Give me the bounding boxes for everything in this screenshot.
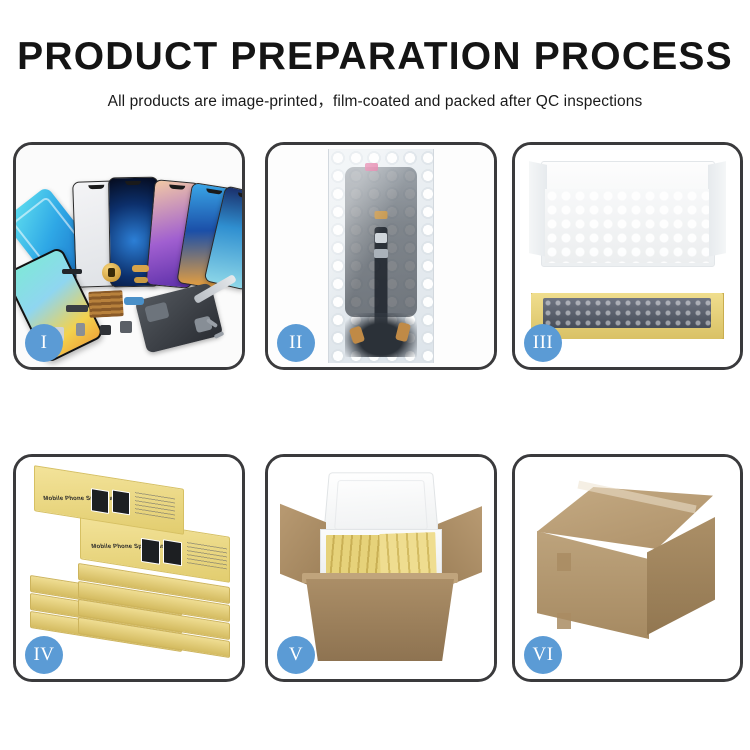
lid-flap-right xyxy=(708,161,726,257)
part-gold-strip xyxy=(134,277,148,283)
white-foam-sheet xyxy=(545,189,709,263)
step-badge-6: VI xyxy=(524,636,562,674)
bubble-wrap-sleeve xyxy=(328,149,434,363)
yellow-boxes-row-2 xyxy=(379,532,437,578)
part-speaker xyxy=(62,269,82,274)
process-step-2: II xyxy=(265,142,497,370)
part-sim-tray xyxy=(76,323,85,336)
step-badge-1: I xyxy=(25,324,63,362)
process-step-5: V xyxy=(265,454,497,682)
product-preparation-infographic: PRODUCT PREPARATION PROCESS All products… xyxy=(0,0,750,750)
process-step-6: VI xyxy=(512,454,743,682)
part-camera-module xyxy=(100,325,111,335)
wrapped-cable-bundle xyxy=(345,313,417,357)
step-badge-3: III xyxy=(524,324,562,362)
carton-tab-lower xyxy=(557,613,571,629)
wrapped-connector-gold xyxy=(375,211,388,219)
wrapped-connector-grey xyxy=(374,249,388,258)
step-badge-5: V xyxy=(277,636,315,674)
part-flex-gold xyxy=(132,265,149,272)
chip-grid-part xyxy=(88,290,123,318)
part-flex-cable xyxy=(66,305,88,312)
step-badge-4: IV xyxy=(25,636,63,674)
yellow-tray xyxy=(531,293,723,339)
box-label-upper: Mobile Phone Spare Parts xyxy=(43,496,122,502)
process-step-3: III xyxy=(512,142,743,370)
pink-tape-label xyxy=(365,163,378,171)
carton-body xyxy=(306,579,454,661)
process-step-1: I xyxy=(13,142,245,370)
step-badge-2: II xyxy=(277,324,315,362)
copper-coil-part xyxy=(102,263,121,282)
page-subtitle: All products are image-printed，film-coat… xyxy=(0,89,750,111)
process-step-4: Mobile Phone Spare Parts Mobile Phone Sp… xyxy=(13,454,245,682)
wrapped-connector-light xyxy=(375,233,387,243)
retail-box-stack: Mobile Phone Spare Parts Mobile Phone Sp… xyxy=(24,473,236,663)
carton-tab-upper xyxy=(557,553,571,571)
header: PRODUCT PREPARATION PROCESS All products… xyxy=(0,0,750,111)
part-battery-connector xyxy=(120,321,132,333)
bubble-wrapped-contents xyxy=(543,298,711,328)
page-title: PRODUCT PREPARATION PROCESS xyxy=(0,37,750,76)
phone-screen-fan xyxy=(74,163,242,287)
process-step-grid: I II xyxy=(0,142,750,702)
part-connector-blue xyxy=(124,297,144,305)
